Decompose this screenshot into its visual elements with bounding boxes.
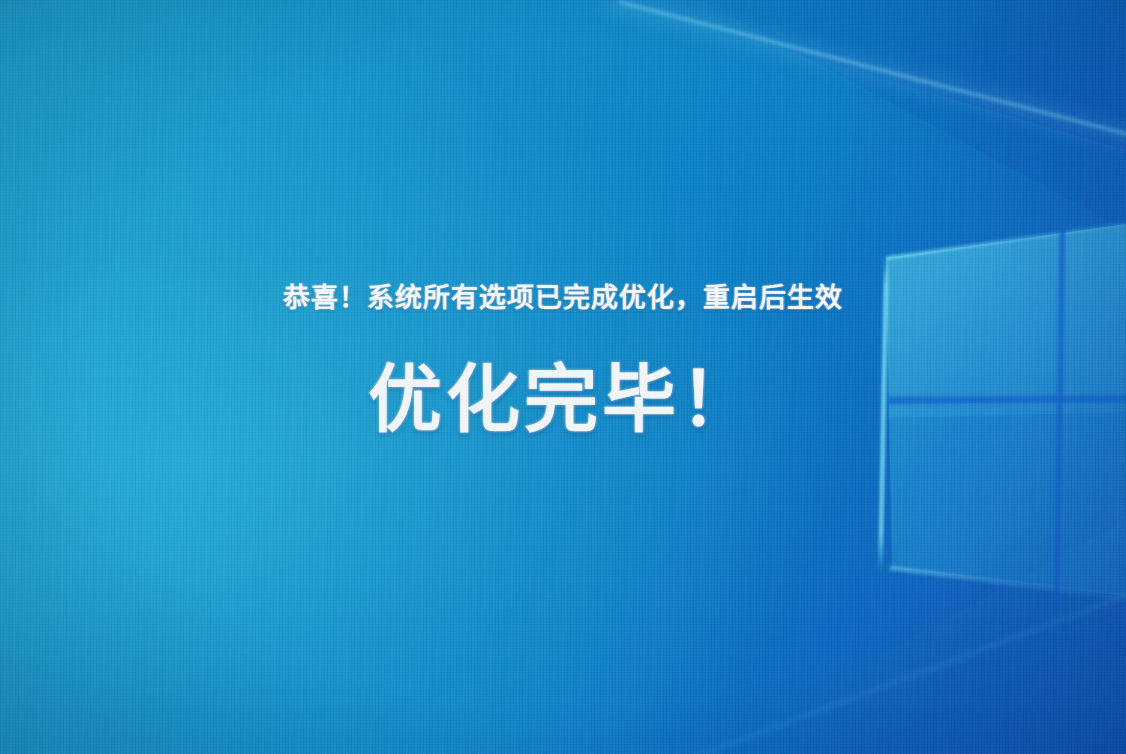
desktop-screen-photo: 恭喜！系统所有选项已完成优化，重启后生效 优化完毕！ [0, 0, 1126, 754]
completion-title: 优化完毕！ [0, 340, 1126, 447]
optimization-complete-overlay: 恭喜！系统所有选项已完成优化，重启后生效 优化完毕！ [0, 0, 1126, 754]
completion-headline: 恭喜！系统所有选项已完成优化，重启后生效 [0, 276, 1126, 315]
